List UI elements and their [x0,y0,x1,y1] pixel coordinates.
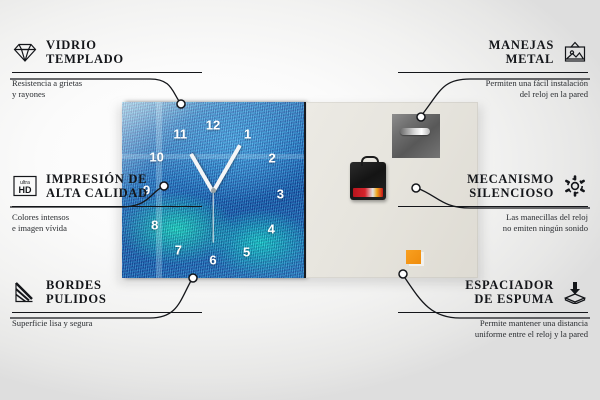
callout-subtitle: Permite mantener una distancia uniforme … [398,318,588,341]
callout-title: IMPRESIÓN DE ALTA CALIDAD [46,172,148,201]
gear-icon [562,174,588,198]
wall-hanger-icon [562,40,588,64]
callout-rule [12,312,202,313]
callout-subtitle: Colores intensos e imagen vívida [12,212,202,235]
ultra-hd-icon: ultra HD [12,174,38,198]
foam-spacer-icon [562,280,588,304]
callout-rule [12,206,202,207]
callout-header: BORDES PULIDOS [12,278,202,307]
callout-header: MECANISMO SILENCIOSO [398,172,588,201]
silent-clock-mechanism [350,162,386,200]
callout-subtitle: Resistencia a grietas y rayones [12,78,202,101]
callout-vidrio-templado: VIDRIO TEMPLADO Resistencia a grietas y … [12,38,202,101]
foam-spacer [406,250,421,264]
callout-rule [398,206,588,207]
callout-impresion-alta-calidad: ultra HD IMPRESIÓN DE ALTA CALIDAD Color… [12,172,202,235]
battery [353,188,383,197]
callout-header: ESPACIADOR DE ESPUMA [398,278,588,307]
callout-rule [398,72,588,73]
callout-subtitle: Superficie lisa y segura [12,318,202,330]
polished-edges-icon [12,280,38,304]
callout-manejas-metal: MANEJAS METAL Permiten una fácil instala… [398,38,588,101]
callout-title: MECANISMO SILENCIOSO [467,172,554,201]
callout-subtitle: Permiten una fácil instalación del reloj… [398,78,588,101]
callout-title: BORDES PULIDOS [46,278,106,307]
callout-bordes-pulidos: BORDES PULIDOS Superficie lisa y segura [12,278,202,329]
callout-rule [12,72,202,73]
svg-text:HD: HD [19,185,32,195]
callout-title: VIDRIO TEMPLADO [46,38,124,67]
metal-hanger-plate [392,114,440,158]
mechanism-hanging-loop [361,156,379,166]
callout-espaciador-espuma: ESPACIADOR DE ESPUMA Permite mantener un… [398,278,588,341]
callout-header: VIDRIO TEMPLADO [12,38,202,67]
callout-header: ultra HD IMPRESIÓN DE ALTA CALIDAD [12,172,202,201]
infographic-canvas: 12 1 2 3 4 5 6 7 8 9 10 11 [0,0,600,400]
callout-mecanismo-silencioso: MECANISMO SILENCIOSO Las manecillas del … [398,172,588,235]
hanger-slot [400,128,430,135]
callout-subtitle: Las manecillas del reloj no emiten ningú… [398,212,588,235]
callout-rule [398,312,588,313]
callout-title: MANEJAS METAL [489,38,554,67]
callout-header: MANEJAS METAL [398,38,588,67]
diamond-icon [12,40,38,64]
callout-title: ESPACIADOR DE ESPUMA [465,278,554,307]
